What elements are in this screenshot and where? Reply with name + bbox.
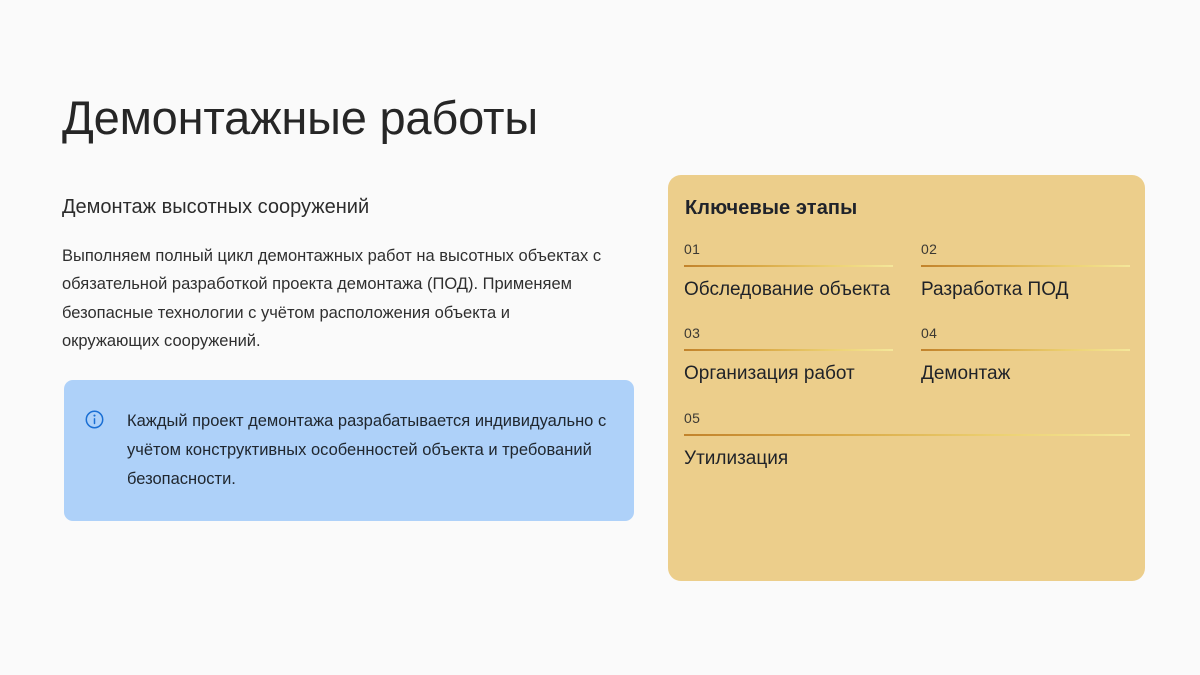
step-label: Утилизация: [684, 447, 1130, 471]
key-stages-panel: Ключевые этапы 01 Обследование объекта 0…: [668, 175, 1145, 581]
panel-heading: Ключевые этапы: [684, 197, 1130, 220]
step-item-01: 01 Обследование объекта: [684, 242, 893, 326]
left-content-column: Демонтаж высотных сооружений Выполняем п…: [62, 194, 637, 356]
step-item-02: 02 Разработка ПОД: [921, 242, 1130, 326]
step-label: Организация работ: [684, 362, 893, 386]
step-number: 02: [921, 242, 1130, 265]
section-subtitle: Демонтаж высотных сооружений: [62, 194, 637, 220]
step-item-04: 04 Демонтаж: [921, 326, 1130, 410]
step-divider: [684, 434, 1130, 436]
step-item-03: 03 Организация работ: [684, 326, 893, 410]
step-item-05: 05 Утилизация: [684, 411, 1130, 495]
step-label: Разработка ПОД: [921, 278, 1130, 302]
step-divider: [684, 265, 893, 267]
step-divider: [684, 349, 893, 351]
info-callout: Каждый проект демонтажа разрабатывается …: [64, 380, 634, 521]
step-divider: [921, 349, 1130, 351]
step-label: Обследование объекта: [684, 278, 893, 302]
slide-root: Демонтажные работы Демонтаж высотных соо…: [0, 0, 1200, 675]
step-number: 05: [684, 411, 1130, 434]
body-paragraph: Выполняем полный цикл демонтажных работ …: [62, 242, 602, 356]
info-callout-text: Каждый проект демонтажа разрабатывается …: [127, 407, 610, 494]
step-number: 04: [921, 326, 1130, 349]
step-divider: [921, 265, 1130, 267]
step-number: 03: [684, 326, 893, 349]
step-label: Демонтаж: [921, 362, 1130, 386]
step-number: 01: [684, 242, 893, 265]
steps-grid: 01 Обследование объекта 02 Разработка ПО…: [684, 242, 1130, 495]
page-title: Демонтажные работы: [62, 92, 538, 145]
info-circle-icon: [85, 410, 104, 429]
